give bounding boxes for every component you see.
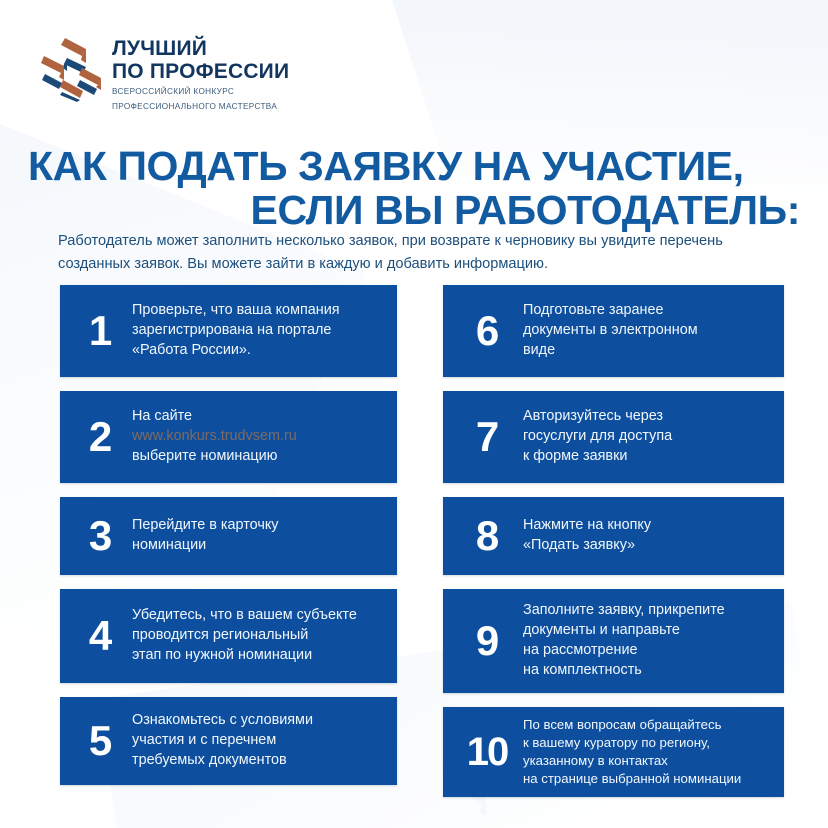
step-text-line: Авторизуйтесь через <box>523 407 772 427</box>
step-text-line: к форме заявки <box>523 447 772 467</box>
step-number: 4 <box>74 615 126 657</box>
intro-paragraph: Работодатель может заполнить несколько з… <box>58 230 788 276</box>
step-text-line: выберите номинацию <box>132 447 385 467</box>
step-number: 1 <box>74 310 126 352</box>
step-number: 9 <box>457 620 517 662</box>
logo-title-line-2: ПО ПРОФЕССИИ <box>112 61 289 84</box>
step-number: 5 <box>74 720 126 762</box>
step-text: Перейдите в карточку номинации <box>126 516 385 556</box>
brand-logo: ЛУЧШИЙ ПО ПРОФЕССИИ ВСЕРОССИЙСКИЙ КОНКУР… <box>40 36 289 113</box>
step-text-line: госуслуги для доступа <box>523 427 772 447</box>
step-number: 10 <box>457 732 517 772</box>
step-text-line: указанному в контактах <box>523 752 772 770</box>
step-card-1: 1 Проверьте, что ваша компания зарегистр… <box>60 285 397 377</box>
step-text-line: номинации <box>132 536 385 556</box>
step-number: 8 <box>457 515 517 557</box>
page-title-line-2: ЕСЛИ ВЫ РАБОТОДАТЕЛЬ: <box>28 189 800 232</box>
step-card-6: 6 Подготовьте заранее документы в электр… <box>443 285 784 377</box>
step-card-10: 10 По всем вопросам обращайтесь к вашему… <box>443 707 784 797</box>
step-card-4: 4 Убедитесь, что в вашем субъекте провод… <box>60 589 397 683</box>
steps-column-right: 6 Подготовьте заранее документы в электр… <box>443 285 784 797</box>
step-text-line: на комплектность <box>523 661 772 681</box>
step-text-line: Нажмите на кнопку <box>523 516 772 536</box>
step-number: 6 <box>457 310 517 352</box>
step-text-line: на странице выбранной номинации <box>523 770 772 788</box>
steps-column-left: 1 Проверьте, что ваша компания зарегистр… <box>60 285 397 797</box>
step-text-line: документы в электронном <box>523 321 772 341</box>
step-number: 7 <box>457 416 517 458</box>
step-text: Проверьте, что ваша компания зарегистрир… <box>126 301 385 361</box>
step-card-2: 2 На сайте www.konkurs.trudvsem.ru выбер… <box>60 391 397 483</box>
step-text: Авторизуйтесь через госуслуги для доступ… <box>517 407 772 467</box>
step-text-line: Проверьте, что ваша компания <box>132 301 385 321</box>
logo-text-block: ЛУЧШИЙ ПО ПРОФЕССИИ ВСЕРОССИЙСКИЙ КОНКУР… <box>112 36 289 113</box>
logo-title-line-1: ЛУЧШИЙ <box>112 38 289 61</box>
step-card-3: 3 Перейдите в карточку номинации <box>60 497 397 575</box>
step-text: Подготовьте заранее документы в электрон… <box>517 301 772 361</box>
logo-subtitle-line-1: ВСЕРОССИЙСКИЙ КОНКУРС <box>112 87 289 98</box>
step-text-line: проводится региональный <box>132 626 385 646</box>
step-text-line: «Работа России». <box>132 341 385 361</box>
step-text-line: на рассмотрение <box>523 641 772 661</box>
step-text-line: По всем вопросам обращайтесь <box>523 716 772 734</box>
step-text-line: Заполните заявку, прикрепите <box>523 601 772 621</box>
step-text: Заполните заявку, прикрепите документы и… <box>517 601 772 681</box>
step-text: Нажмите на кнопку «Подать заявку» <box>517 516 772 556</box>
steps-container: 1 Проверьте, что ваша компания зарегистр… <box>60 285 784 797</box>
step-text-line: виде <box>523 341 772 361</box>
page-title: КАК ПОДАТЬ ЗАЯВКУ НА УЧАСТИЕ, ЕСЛИ ВЫ РА… <box>28 145 800 232</box>
step-text-line: Перейдите в карточку <box>132 516 385 536</box>
step-text-line: документы и направьте <box>523 621 772 641</box>
step-card-8: 8 Нажмите на кнопку «Подать заявку» <box>443 497 784 575</box>
step-card-9: 9 Заполните заявку, прикрепите документы… <box>443 589 784 693</box>
step-text-line: зарегистрирована на портале <box>132 321 385 341</box>
infographic-page: ЛУЧШИЙ ПО ПРОФЕССИИ ВСЕРОССИЙСКИЙ КОНКУР… <box>0 0 828 828</box>
step-text: Ознакомьтесь с условиями участия и с пер… <box>126 711 385 771</box>
step-link-url[interactable]: www.konkurs.trudvsem.ru <box>132 427 385 447</box>
step-card-5: 5 Ознакомьтесь с условиями участия и с п… <box>60 697 397 785</box>
page-title-line-1: КАК ПОДАТЬ ЗАЯВКУ НА УЧАСТИЕ, <box>28 145 800 188</box>
step-text-line: Убедитесь, что в вашем субъекте <box>132 606 385 626</box>
step-number: 3 <box>74 515 126 557</box>
logo-chevron-icon <box>40 36 102 102</box>
step-text: Убедитесь, что в вашем субъекте проводит… <box>126 606 385 666</box>
step-text-line: «Подать заявку» <box>523 536 772 556</box>
step-text: На сайте www.konkurs.trudvsem.ru выберит… <box>126 407 385 467</box>
step-card-7: 7 Авторизуйтесь через госуслуги для дост… <box>443 391 784 483</box>
step-text-line: к вашему куратору по региону, <box>523 734 772 752</box>
step-text-line: требуемых документов <box>132 751 385 771</box>
step-text-line: На сайте <box>132 407 385 427</box>
step-text: По всем вопросам обращайтесь к вашему ку… <box>517 716 772 788</box>
step-text-line: этап по нужной номинации <box>132 646 385 666</box>
step-text-line: участия и с перечнем <box>132 731 385 751</box>
step-number: 2 <box>74 416 126 458</box>
step-text-line: Ознакомьтесь с условиями <box>132 711 385 731</box>
logo-subtitle-line-2: ПРОФЕССИОНАЛЬНОГО МАСТЕРСТВА <box>112 102 289 113</box>
step-text-line: Подготовьте заранее <box>523 301 772 321</box>
